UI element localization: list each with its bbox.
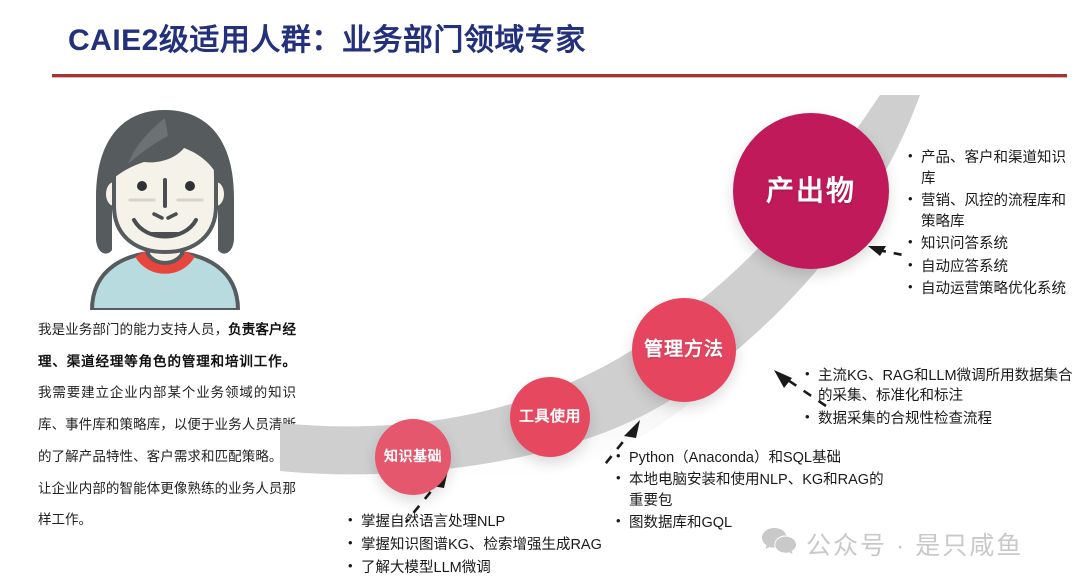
bullet-item: 产品、客户和渠道知识库	[908, 148, 1076, 189]
watermark-text: 公众号 · 是只咸鱼	[806, 526, 1023, 562]
bullet-item: 掌握自然语言处理NLP	[348, 512, 658, 533]
bullet-list-knowledge-base: 掌握自然语言处理NLP掌握知识图谱KG、检索增强生成RAG了解大模型LLM微调	[348, 512, 658, 579]
stage-bubble-tool-use[interactable]: 工具使用	[510, 377, 590, 457]
bullet-group-output: 产品、客户和渠道知识库营销、风控的流程库和策略库知识问答系统自动应答系统自动运营…	[908, 148, 1076, 302]
persona-description: 我是业务部门的能力支持人员，负责客户经理、渠道经理等角色的管理和培训工作。 我需…	[38, 314, 296, 536]
bullet-item: 营销、风控的流程库和策略库	[908, 191, 1076, 232]
persona-paragraph-2: 我需要建立企业内部某个业务领域的知识库、事件库和策略库，以便于业务人员清晰的了解…	[38, 385, 296, 527]
bullet-group-management-method: 主流KG、RAG和LLM微调所用数据集合的采集、标准化和标注数据采集的合规性检查…	[805, 366, 1080, 431]
bullet-item: 数据采集的合规性检查流程	[805, 409, 1080, 429]
bullet-list-management-method: 主流KG、RAG和LLM微调所用数据集合的采集、标准化和标注数据采集的合规性检查…	[805, 366, 1080, 429]
bullet-item: 自动应答系统	[908, 257, 1076, 278]
bullet-item: 知识问答系统	[908, 234, 1076, 255]
bullet-item: 了解大模型LLM微调	[348, 558, 658, 579]
bullet-item: 自动运营策略优化系统	[908, 279, 1076, 300]
watermark: 公众号 · 是只咸鱼	[762, 526, 1023, 562]
persona-avatar	[72, 102, 258, 310]
bullet-item: 掌握知识图谱KG、检索增强生成RAG	[348, 535, 658, 556]
stage-bubble-management-method[interactable]: 管理方法	[632, 298, 736, 402]
bullet-item: 本地电脑安装和使用NLP、KG和RAG的重要包	[616, 470, 886, 511]
bullet-item: Python（Anaconda）和SQL基础	[616, 448, 886, 468]
page-title: CAIE2级适用人群：业务部门领域专家	[68, 15, 586, 59]
slide-canvas: CAIE2级适用人群：业务部门领域专家	[0, 0, 1080, 587]
bullet-list-output: 产品、客户和渠道知识库营销、风控的流程库和策略库知识问答系统自动应答系统自动运营…	[908, 148, 1076, 300]
bullet-group-knowledge-base: 掌握自然语言处理NLP掌握知识图谱KG、检索增强生成RAG了解大模型LLM微调	[348, 512, 658, 581]
stage-bubble-output[interactable]: 产出物	[733, 113, 889, 269]
bullet-item: 主流KG、RAG和LLM微调所用数据集合的采集、标准化和标注	[805, 366, 1080, 407]
wechat-icon	[762, 527, 796, 562]
title-divider	[52, 74, 1067, 77]
persona-paragraph-1-plain: 我是业务部门的能力支持人员，	[38, 322, 228, 337]
stage-bubble-knowledge-base[interactable]: 知识基础	[375, 419, 451, 495]
